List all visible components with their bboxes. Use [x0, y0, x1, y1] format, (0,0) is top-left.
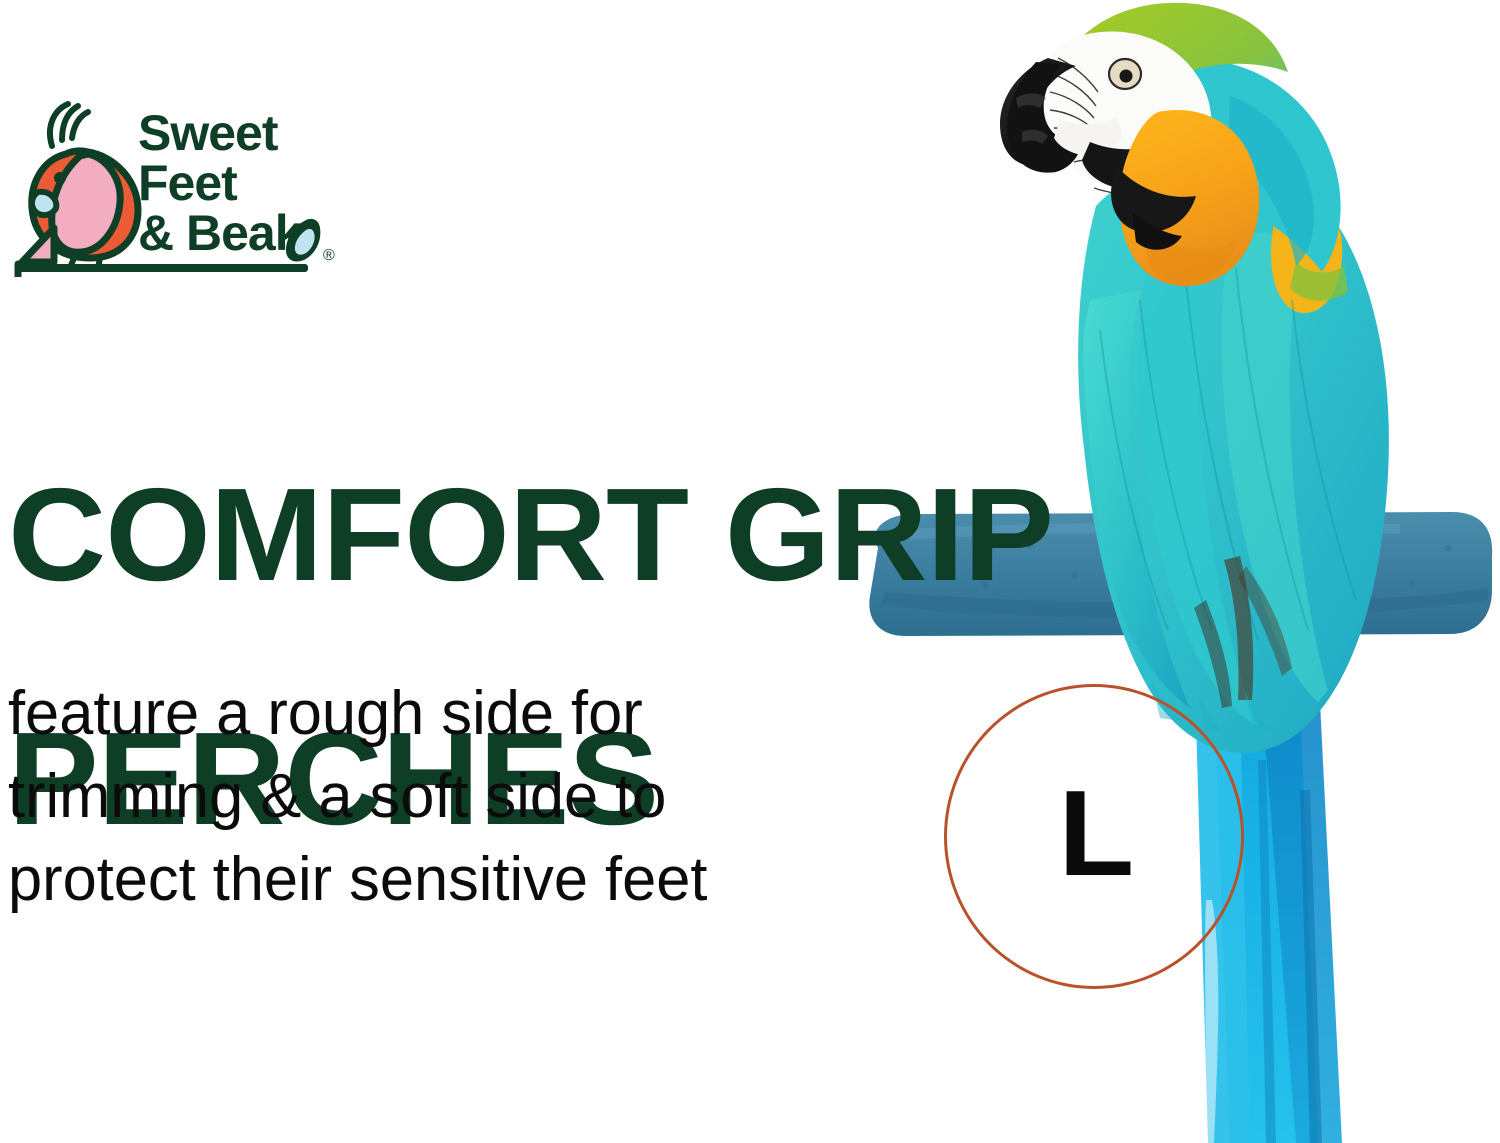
registered-mark: ® — [323, 247, 335, 264]
size-badge: L — [944, 684, 1244, 989]
svg-text:Feet: Feet — [138, 155, 238, 211]
subtitle-text: feature a rough side for trimming & a so… — [8, 672, 879, 921]
product-infographic-banner: Sweet Feet & Beak ® COMFORT GRIP PERCHES… — [0, 0, 1500, 1143]
size-badge-label: L — [1058, 772, 1134, 894]
macaw-body — [1078, 161, 1389, 753]
svg-text:& Beak: & Beak — [138, 205, 303, 261]
headline-line-1: COMFORT GRIP — [8, 474, 1100, 596]
svg-text:Sweet: Sweet — [138, 105, 279, 161]
macaw-head — [1000, 3, 1341, 286]
subtitle-line-3: protect their sensitive feet — [8, 838, 879, 921]
subtitle-line-1: feature a rough side for — [8, 672, 879, 755]
logo-wordmark: Sweet Feet & Beak — [138, 105, 303, 261]
brand-logo: Sweet Feet & Beak ® — [10, 92, 340, 277]
subtitle-line-2: trimming & a soft side to — [8, 755, 879, 838]
